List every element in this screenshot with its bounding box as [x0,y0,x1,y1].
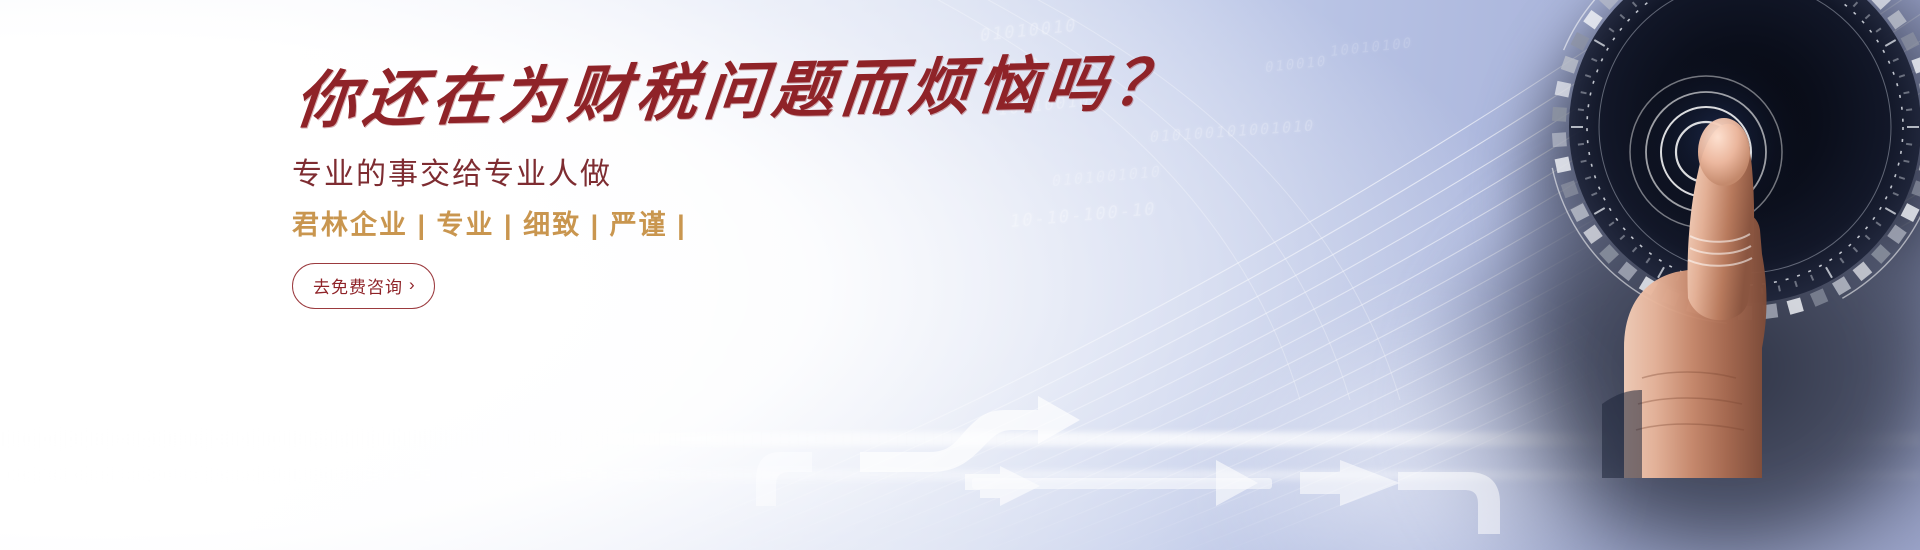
cta-label: 去免费咨询 [313,273,403,298]
free-consultation-button[interactable]: 去免费咨询 › [292,263,435,309]
tagline: 君林企业 | 专业 | 细致 | 严谨 | [292,209,1052,241]
hero-copy: 你还在为财税问题而烦恼吗？ 专业的事交给专业人做 君林企业 | 专业 | 细致 … [292,68,1052,309]
pointing-finger [1602,48,1832,478]
subtitle: 专业的事交给专业人做 [292,157,1052,193]
chevron-right-icon: › [409,276,416,293]
hero-banner: 0101001010010100100100101001010010100101… [0,0,1920,550]
page-title: 你还在为财税问题而烦恼吗？ [292,52,1061,135]
